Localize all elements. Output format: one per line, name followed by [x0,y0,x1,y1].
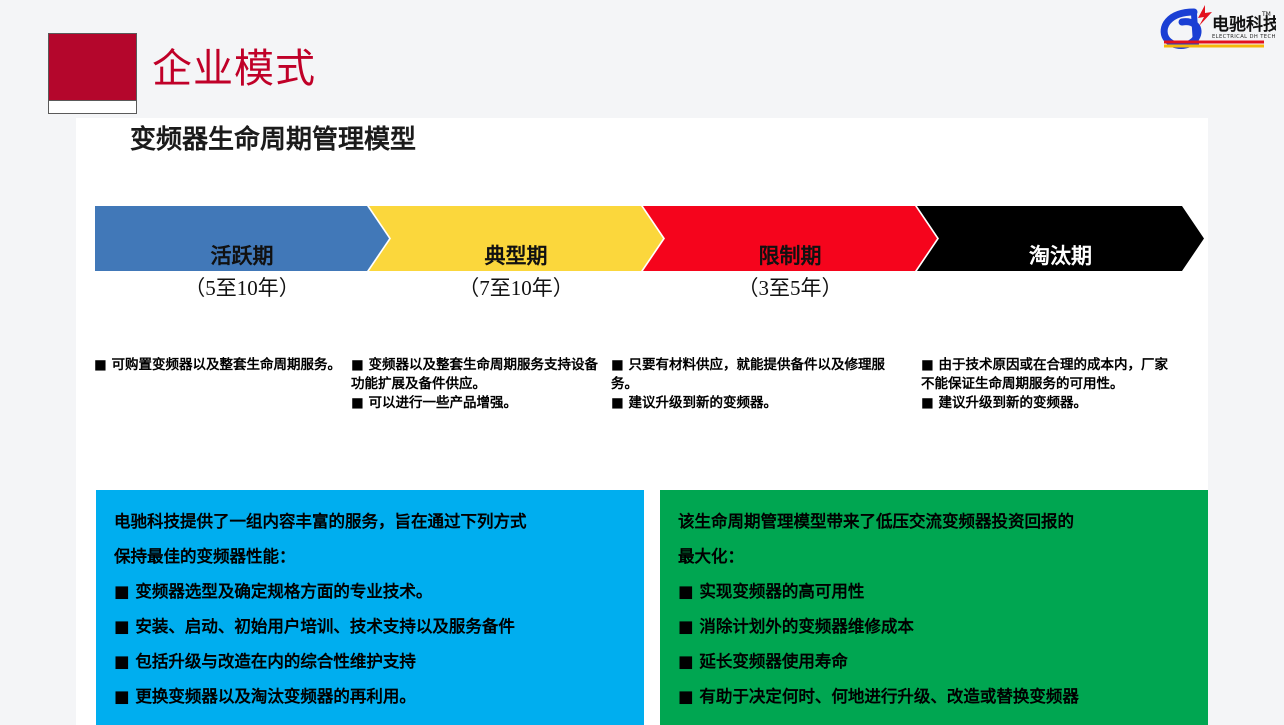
callout-services: 电驰科技提供了一组内容丰富的服务，旨在通过下列方式 保持最佳的变频器性能： ■ … [96,490,644,725]
slide-root: 企业模式 电驰科技 ELECTRICAL DH TECHNOLOGY TM 变频… [0,0,1284,725]
stage-detail-column-2: ■ 变频器以及整套生命周期服务支持设备功能扩展及备件供应。 ■ 可以进行一些产品… [351,356,606,413]
slide-right-gutter [1208,118,1284,725]
callout-services-item-2: ■ 安装、启动、初始用户培训、技术支持以及服务备件 [114,609,626,644]
callout-benefits-item-4: ■ 有助于决定何时、何地进行升级、改造或替换变频器 [678,679,1190,714]
chevron-stage-3-label: 限制期 [643,243,937,269]
chevron-stage-2-label: 典型期 [369,243,663,269]
chevron-stage-2[interactable]: 典型期 [369,206,663,271]
stage-1-duration: （5至10年） [95,273,389,303]
chevron-stage-4[interactable]: 淘汰期 [917,206,1204,271]
stage-detail-column-1: ■ 可购置变频器以及整套生命周期服务。 [94,356,349,375]
stage-1-bullet-1: ■ 可购置变频器以及整套生命周期服务。 [94,356,349,375]
stage-duration-row: （5至10年） （7至10年） （3至5年） [95,273,1204,305]
stage-3-duration: （3至5年） [643,273,937,303]
lifecycle-chevron-band: 活跃期 典型期 限制期 淘汰期 变频器生命周期阶段： [95,206,1204,271]
slide-header: 企业模式 电驰科技 ELECTRICAL DH TECHNOLOGY TM [0,0,1284,118]
callout-boxes: 电驰科技提供了一组内容丰富的服务，旨在通过下列方式 保持最佳的变频器性能： ■ … [96,490,1208,725]
callout-benefits-heading-line-1: 该生命周期管理模型带来了低压交流变频器投资回报的 [678,504,1190,539]
stage-detail-column-4: ■ 由于技术原因或在合理的成本内，厂家不能保证生命周期服务的可用性。 ■ 建议升… [921,356,1181,413]
stage-3-bullet-1: ■ 只要有材料供应，就能提供备件以及修理服务。 [611,356,901,394]
callout-services-item-3: ■ 包括升级与改造在内的综合性维护支持 [114,644,626,679]
stage-4-bullet-2: ■ 建议升级到新的变频器。 [921,394,1181,413]
card-heading: 变频器生命周期管理模型 [130,123,416,157]
stage-3-bullet-2: ■ 建议升级到新的变频器。 [611,394,901,413]
callout-benefits: 该生命周期管理模型带来了低压交流变频器投资回报的 最大化： ■ 实现变频器的高可… [660,490,1208,725]
chevron-stage-1[interactable]: 活跃期 [95,206,389,271]
stage-2-bullet-2: ■ 可以进行一些产品增强。 [351,394,606,413]
company-logo: 电驰科技 ELECTRICAL DH TECHNOLOGY TM [1152,2,1276,54]
stage-4-bullet-1: ■ 由于技术原因或在合理的成本内，厂家不能保证生命周期服务的可用性。 [921,356,1181,394]
chevron-stage-1-label: 活跃期 [95,243,389,269]
callout-services-item-1: ■ 变频器选型及确定规格方面的专业技术。 [114,574,626,609]
content-card: 变频器生命周期管理模型 活跃期 典型期 限制期 淘汰期 变频器生命周期阶段： （… [76,118,1208,725]
callout-services-heading-line-2: 保持最佳的变频器性能： [114,539,626,574]
callout-benefits-item-1: ■ 实现变频器的高可用性 [678,574,1190,609]
logo-artwork: 电驰科技 ELECTRICAL DH TECHNOLOGY TM [1152,2,1276,54]
stage-detail-column-3: ■ 只要有材料供应，就能提供备件以及修理服务。 ■ 建议升级到新的变频器。 [611,356,901,413]
callout-benefits-item-2: ■ 消除计划外的变频器维修成本 [678,609,1190,644]
svg-text:ELECTRICAL DH TECHNOLOGY: ELECTRICAL DH TECHNOLOGY [1212,34,1276,40]
stage-detail-columns: ■ 可购置变频器以及整套生命周期服务。 ■ 变频器以及整套生命周期服务支持设备功… [86,356,1208,476]
page-title: 企业模式 [152,44,316,94]
chevron-stage-3[interactable]: 限制期 [643,206,937,271]
title-accent-block [48,33,137,114]
chevron-stage-4-label: 淘汰期 [917,243,1204,269]
stage-2-bullet-1: ■ 变频器以及整套生命周期服务支持设备功能扩展及备件供应。 [351,356,606,394]
callout-services-heading-line-1: 电驰科技提供了一组内容丰富的服务，旨在通过下列方式 [114,504,626,539]
svg-text:TM: TM [1261,11,1271,18]
stage-2-duration: （7至10年） [369,273,663,303]
callout-benefits-item-3: ■ 延长变频器使用寿命 [678,644,1190,679]
callout-services-item-4: ■ 更换变频器以及淘汰变频器的再利用。 [114,679,626,714]
callout-benefits-heading-line-2: 最大化： [678,539,1190,574]
